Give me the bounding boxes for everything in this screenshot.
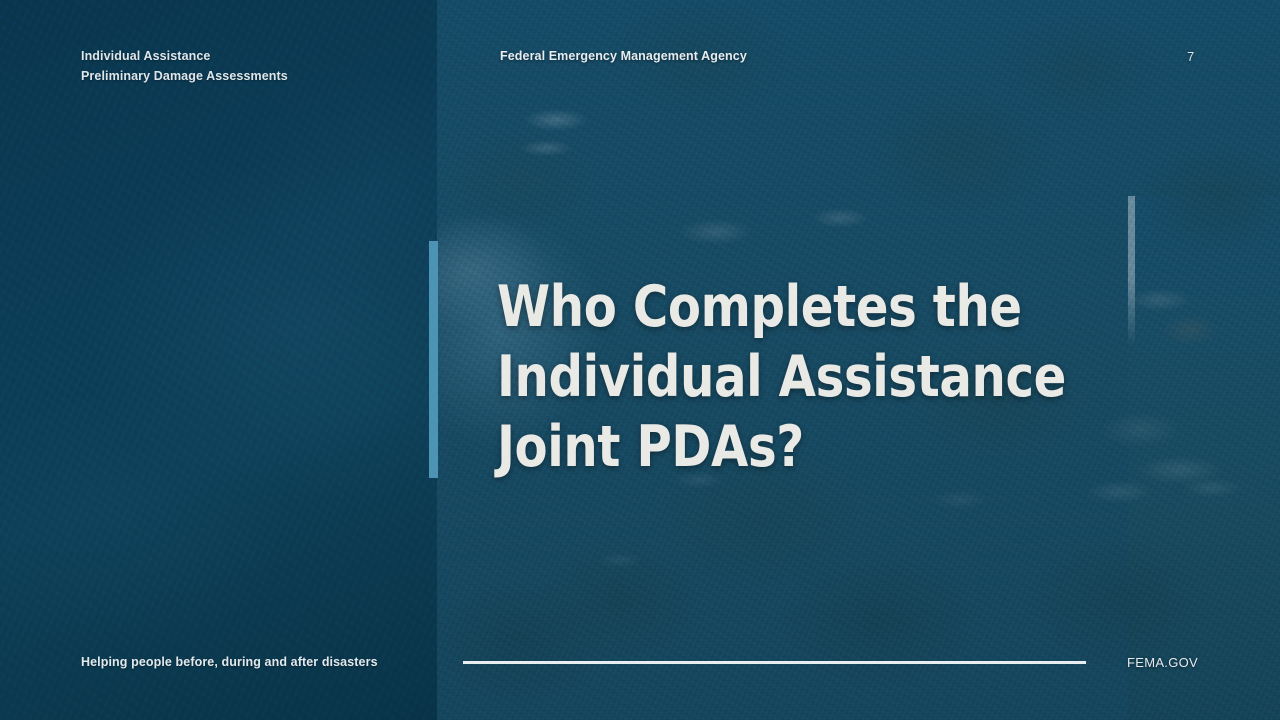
presentation-slide: Individual Assistance Preliminary Damage…: [0, 0, 1280, 720]
header-deck-label-line2: Preliminary Damage Assessments: [81, 67, 288, 87]
left-panel-texture: [0, 0, 437, 720]
page-title-line1: Who Completes the: [497, 272, 1080, 342]
page-title-line3: Joint PDAs?: [497, 412, 1080, 482]
title-accent-bar: [429, 241, 438, 478]
footer-website-url: FEMA.GOV: [1127, 655, 1198, 670]
left-panel: [0, 0, 437, 720]
header-deck-label: Individual Assistance Preliminary Damage…: [81, 47, 288, 86]
page-title: Who Completes the Individual Assistance …: [497, 272, 1080, 482]
footer-divider-rule: [463, 661, 1086, 664]
page-number: 7: [1187, 49, 1194, 64]
page-title-line2: Individual Assistance: [497, 342, 1080, 412]
footer-tagline: Helping people before, during and after …: [81, 655, 378, 669]
header-agency-name: Federal Emergency Management Agency: [500, 49, 747, 63]
header-deck-label-line1: Individual Assistance: [81, 47, 288, 67]
